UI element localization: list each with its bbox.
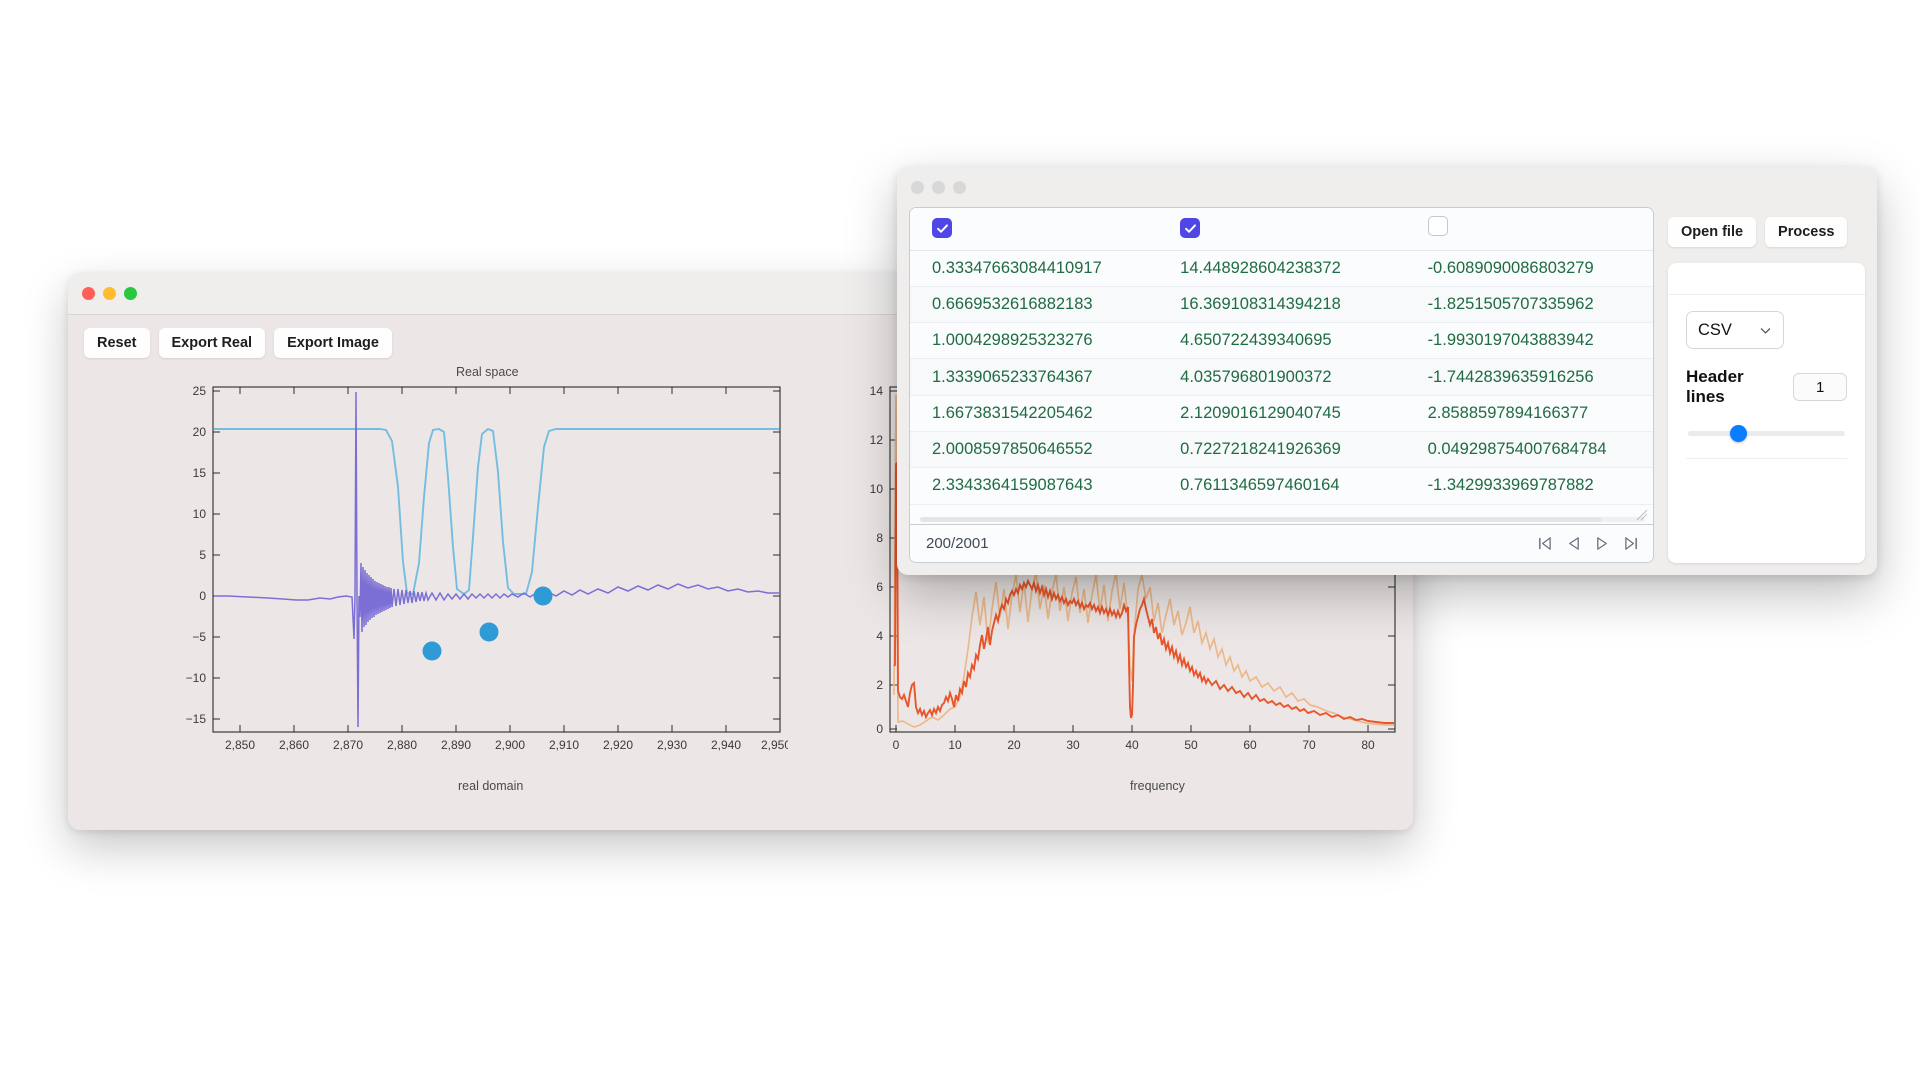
table-cell: 16.369108314394218 bbox=[1158, 286, 1405, 322]
table-horizontal-scrollbar[interactable] bbox=[910, 513, 1653, 524]
table-cell: -1.9930197043883942 bbox=[1406, 323, 1653, 359]
svg-text:20: 20 bbox=[193, 425, 207, 439]
svg-text:20: 20 bbox=[1007, 738, 1021, 752]
slider-track bbox=[1688, 431, 1845, 436]
svg-text:8: 8 bbox=[876, 531, 883, 545]
table-cell: 2.3343364159087643 bbox=[910, 468, 1158, 504]
table-row[interactable]: 2.3343364159087643 0.7611346597460164 -1… bbox=[910, 468, 1653, 504]
real-space-envelope-series bbox=[214, 429, 779, 594]
resize-grip-icon[interactable] bbox=[1636, 509, 1648, 521]
table-row[interactable]: 0.33347663084410917 14.448928604238372 -… bbox=[910, 250, 1653, 286]
column-2-checkbox[interactable] bbox=[1180, 218, 1200, 238]
real-space-chart[interactable]: 25 20 15 10 5 0 −5 −10 −15 bbox=[128, 377, 788, 767]
column-header-3 bbox=[1406, 208, 1653, 250]
real-space-marker-2[interactable] bbox=[480, 623, 499, 642]
svg-text:2,920: 2,920 bbox=[603, 738, 633, 752]
real-space-marker-1[interactable] bbox=[423, 642, 442, 661]
svg-text:0: 0 bbox=[893, 738, 900, 752]
real-space-signal-series bbox=[214, 392, 779, 727]
svg-text:2,900: 2,900 bbox=[495, 738, 525, 752]
table-cell: 4.035796801900372 bbox=[1158, 359, 1405, 395]
svg-text:60: 60 bbox=[1243, 738, 1257, 752]
svg-text:30: 30 bbox=[1066, 738, 1080, 752]
last-page-icon[interactable] bbox=[1624, 536, 1639, 551]
frequency-x-axis-label: frequency bbox=[1130, 779, 1185, 793]
table-cell: 14.448928604238372 bbox=[1158, 250, 1405, 286]
data-table: 0.33347663084410917 14.448928604238372 -… bbox=[910, 208, 1653, 505]
table-cell: -1.8251505707335962 bbox=[1406, 286, 1653, 322]
svg-text:4: 4 bbox=[876, 629, 883, 643]
svg-text:10: 10 bbox=[193, 507, 207, 521]
table-cell: 1.0004298925323276 bbox=[910, 323, 1158, 359]
open-file-button[interactable]: Open file bbox=[1668, 217, 1756, 247]
svg-text:2,910: 2,910 bbox=[549, 738, 579, 752]
table-row[interactable]: 2.0008597850646552 0.7227218241926369 0.… bbox=[910, 431, 1653, 467]
data-table-card: 0.33347663084410917 14.448928604238372 -… bbox=[909, 207, 1654, 563]
plot-toolbar: Reset Export Real Export Image bbox=[84, 328, 392, 358]
table-header-row bbox=[910, 208, 1653, 250]
svg-text:2,950: 2,950 bbox=[761, 738, 788, 752]
dialog-body: 0.33347663084410917 14.448928604238372 -… bbox=[897, 207, 1877, 575]
export-image-button[interactable]: Export Image bbox=[274, 328, 392, 358]
table-cell: 2.1209016129040745 bbox=[1158, 395, 1405, 431]
table-footer: 200/2001 bbox=[910, 524, 1653, 562]
table-cell: 0.7611346597460164 bbox=[1158, 468, 1405, 504]
svg-text:−15: −15 bbox=[186, 712, 207, 726]
svg-text:0: 0 bbox=[876, 722, 883, 736]
svg-text:2,940: 2,940 bbox=[711, 738, 741, 752]
file-format-select[interactable]: CSV bbox=[1686, 311, 1784, 349]
svg-text:70: 70 bbox=[1302, 738, 1316, 752]
pagination-controls bbox=[1537, 536, 1639, 551]
header-lines-label: Header lines bbox=[1686, 367, 1773, 407]
scrollbar-thumb[interactable] bbox=[920, 517, 1602, 522]
import-settings-panel: Open file Process CSV Header line bbox=[1668, 207, 1865, 563]
svg-text:−10: −10 bbox=[186, 671, 207, 685]
table-row[interactable]: 1.3339065233764367 4.035796801900372 -1.… bbox=[910, 359, 1653, 395]
table-cell: 0.7227218241926369 bbox=[1158, 431, 1405, 467]
data-import-dialog: 0.33347663084410917 14.448928604238372 -… bbox=[897, 167, 1877, 575]
dialog-close-button[interactable] bbox=[911, 181, 924, 194]
table-row[interactable]: 0.6669532616882183 16.369108314394218 -1… bbox=[910, 286, 1653, 322]
svg-text:14: 14 bbox=[870, 384, 884, 398]
svg-text:2,880: 2,880 bbox=[387, 738, 417, 752]
column-3-checkbox[interactable] bbox=[1428, 216, 1448, 236]
svg-text:6: 6 bbox=[876, 580, 883, 594]
svg-text:12: 12 bbox=[870, 433, 884, 447]
data-table-scroll-area[interactable]: 0.33347663084410917 14.448928604238372 -… bbox=[910, 208, 1653, 513]
svg-text:50: 50 bbox=[1184, 738, 1198, 752]
table-cell: 0.049298754007684784 bbox=[1406, 431, 1653, 467]
file-format-value: CSV bbox=[1698, 321, 1732, 340]
next-page-icon[interactable] bbox=[1595, 536, 1610, 551]
header-lines-slider[interactable] bbox=[1686, 424, 1847, 444]
maximize-button[interactable] bbox=[124, 287, 137, 300]
svg-text:25: 25 bbox=[193, 384, 207, 398]
settings-card-header bbox=[1668, 263, 1865, 295]
svg-text:5: 5 bbox=[199, 548, 206, 562]
close-button[interactable] bbox=[82, 287, 95, 300]
panel-action-buttons: Open file Process bbox=[1668, 217, 1865, 247]
settings-card-body: CSV Header lines 1 bbox=[1668, 295, 1865, 563]
table-cell: -1.7442839635916256 bbox=[1406, 359, 1653, 395]
table-cell: 4.650722439340695 bbox=[1158, 323, 1405, 359]
svg-text:10: 10 bbox=[870, 482, 884, 496]
svg-text:−5: −5 bbox=[192, 630, 206, 644]
table-row[interactable]: 1.6673831542205462 2.1209016129040745 2.… bbox=[910, 395, 1653, 431]
table-cell: -0.6089090086803279 bbox=[1406, 250, 1653, 286]
svg-text:40: 40 bbox=[1125, 738, 1139, 752]
svg-text:2: 2 bbox=[876, 678, 883, 692]
slider-knob[interactable] bbox=[1730, 425, 1747, 442]
svg-text:80: 80 bbox=[1361, 738, 1375, 752]
real-space-marker-3[interactable] bbox=[534, 587, 553, 606]
table-cell: 0.6669532616882183 bbox=[910, 286, 1158, 322]
previous-page-icon[interactable] bbox=[1566, 536, 1581, 551]
svg-text:2,870: 2,870 bbox=[333, 738, 363, 752]
column-header-2 bbox=[1158, 208, 1405, 250]
column-header-1 bbox=[910, 208, 1158, 250]
dialog-titlebar[interactable] bbox=[897, 167, 1877, 207]
minimize-button[interactable] bbox=[103, 287, 116, 300]
table-cell: -1.3429933969787882 bbox=[1406, 468, 1653, 504]
settings-card: CSV Header lines 1 bbox=[1668, 263, 1865, 563]
reset-button[interactable]: Reset bbox=[84, 328, 150, 358]
svg-text:10: 10 bbox=[948, 738, 962, 752]
table-cell: 2.0008597850646552 bbox=[910, 431, 1158, 467]
svg-text:15: 15 bbox=[193, 466, 207, 480]
table-cell: 0.33347663084410917 bbox=[910, 250, 1158, 286]
table-cell: 2.8588597894166377 bbox=[1406, 395, 1653, 431]
process-button[interactable]: Process bbox=[1765, 217, 1847, 247]
column-1-checkbox[interactable] bbox=[932, 218, 952, 238]
first-page-icon[interactable] bbox=[1537, 536, 1552, 551]
svg-text:2,850: 2,850 bbox=[225, 738, 255, 752]
export-real-button[interactable]: Export Real bbox=[159, 328, 266, 358]
page-count-label: 200/2001 bbox=[926, 535, 989, 552]
header-lines-input[interactable]: 1 bbox=[1793, 373, 1847, 401]
header-lines-row: Header lines 1 bbox=[1686, 367, 1847, 407]
dialog-minimize-button[interactable] bbox=[932, 181, 945, 194]
svg-text:2,930: 2,930 bbox=[657, 738, 687, 752]
svg-text:0: 0 bbox=[199, 589, 206, 603]
settings-divider bbox=[1686, 458, 1847, 459]
chevron-down-icon bbox=[1759, 324, 1772, 337]
svg-text:2,890: 2,890 bbox=[441, 738, 471, 752]
table-cell: 1.3339065233764367 bbox=[910, 359, 1158, 395]
table-cell: 1.6673831542205462 bbox=[910, 395, 1158, 431]
svg-text:2,860: 2,860 bbox=[279, 738, 309, 752]
table-row[interactable]: 1.0004298925323276 4.650722439340695 -1.… bbox=[910, 323, 1653, 359]
scrollbar-track bbox=[920, 517, 1645, 522]
real-space-x-axis-label: real domain bbox=[458, 779, 523, 793]
dialog-maximize-button[interactable] bbox=[953, 181, 966, 194]
